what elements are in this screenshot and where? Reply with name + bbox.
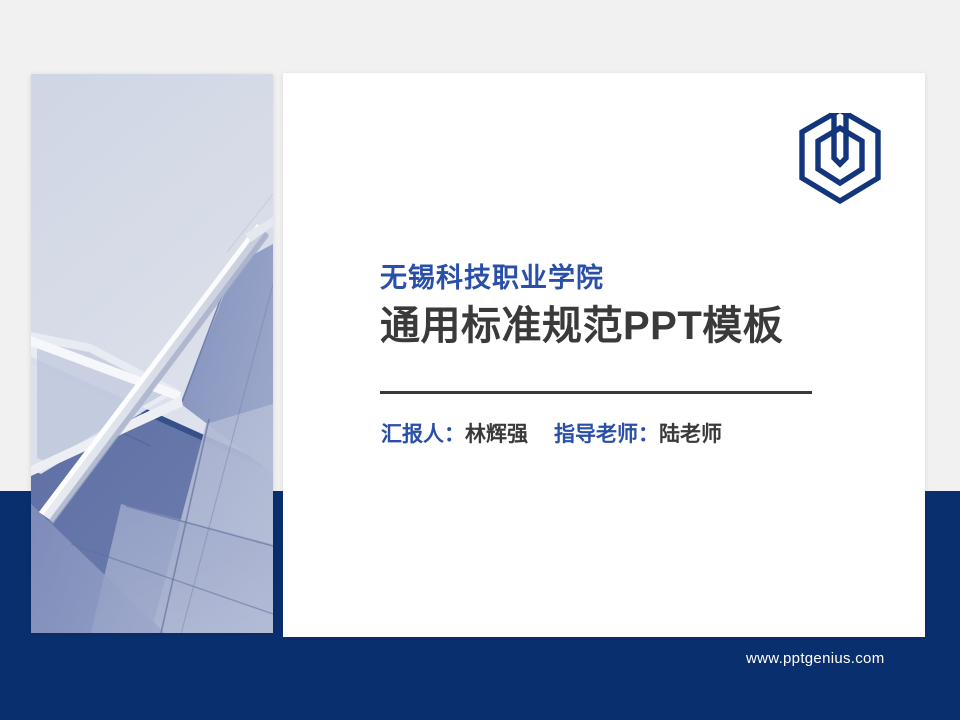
presentation-slide: 无锡科技职业学院 通用标准规范PPT模板 汇报人：林辉强指导老师：陆老师 www… [0, 0, 960, 720]
page-title: 通用标准规范PPT模板 [380, 302, 850, 350]
presenter-label: 汇报人： [381, 423, 465, 446]
advisor-name: 陆老师 [659, 423, 722, 446]
advisor-label: 指导老师： [554, 423, 659, 446]
title-block: 无锡科技职业学院 通用标准规范PPT模板 [380, 262, 850, 350]
wuxi-institute-hexagon-logo [794, 106, 886, 206]
architecture-ceiling-photo [31, 74, 273, 633]
byline: 汇报人：林辉强指导老师：陆老师 [381, 421, 722, 448]
presenter-name: 林辉强 [465, 423, 528, 446]
school-name: 无锡科技职业学院 [380, 262, 850, 296]
footer-url[interactable]: www.pptgenius.com [746, 650, 885, 667]
title-divider [380, 391, 812, 394]
